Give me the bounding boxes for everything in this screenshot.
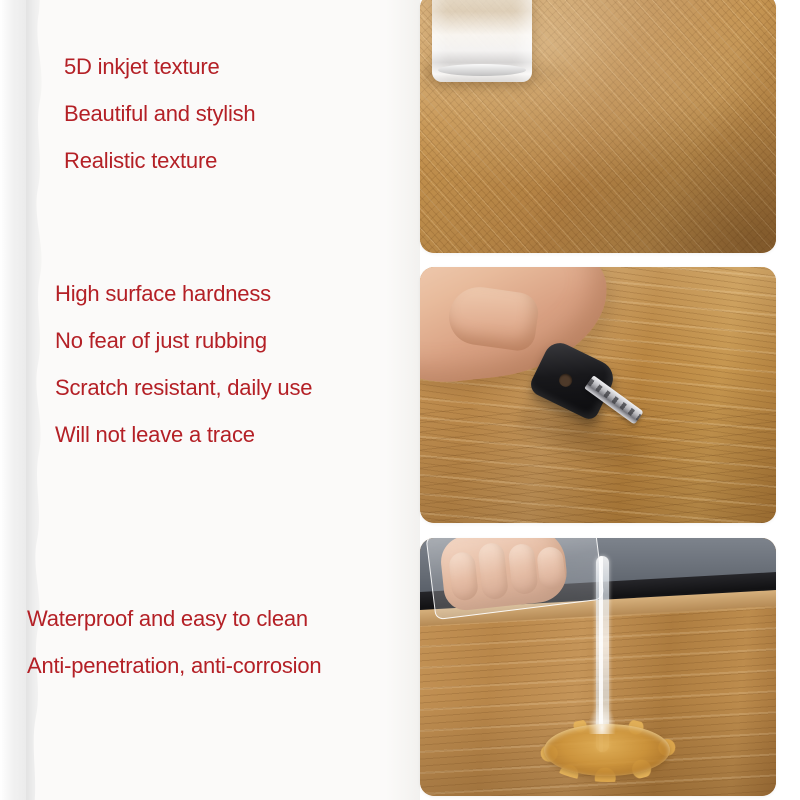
water-splash	[588, 704, 616, 734]
feature-line: High surface hardness	[55, 283, 312, 305]
feature-line: Realistic texture	[64, 150, 255, 172]
photo-wood-surface-with-glass	[420, 0, 776, 253]
feature-line: Waterproof and easy to clean	[27, 608, 321, 630]
photo-key-scratch-test	[420, 267, 776, 523]
product-feature-page: 5D inkjet texture Beautiful and stylish …	[0, 0, 800, 800]
feature-block-3: Waterproof and easy to clean Anti-penetr…	[27, 608, 321, 702]
feature-line: Beautiful and stylish	[64, 103, 255, 125]
drinking-glass	[432, 0, 532, 82]
feature-line: 5D inkjet texture	[64, 56, 255, 78]
paper-right-fade	[386, 0, 420, 800]
feature-line: Will not leave a trace	[55, 424, 312, 446]
feature-line: Scratch resistant, daily use	[55, 377, 312, 399]
feature-block-2: High surface hardness No fear of just ru…	[55, 283, 312, 471]
feature-line: Anti-penetration, anti-corrosion	[27, 655, 321, 677]
photo-waterproof-test	[420, 538, 776, 796]
feature-line: No fear of just rubbing	[55, 330, 312, 352]
key-button-icon	[557, 372, 574, 389]
thumb	[446, 283, 541, 353]
feature-block-1: 5D inkjet texture Beautiful and stylish …	[64, 56, 255, 197]
